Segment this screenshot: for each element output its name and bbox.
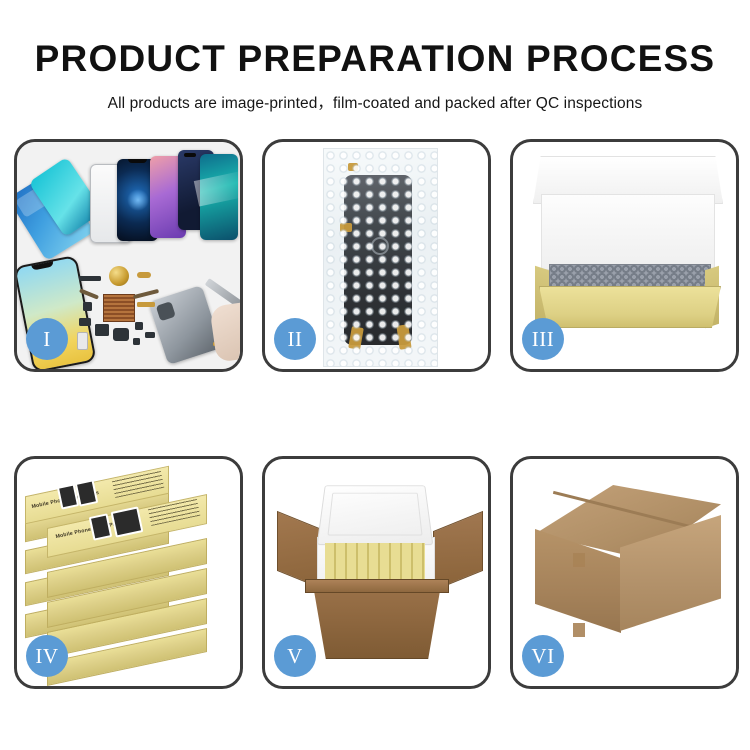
speaker-coil-part [109, 266, 129, 286]
step-panel-2: II [262, 139, 491, 372]
carton-tape-patch [573, 623, 585, 637]
page-title: PRODUCT PREPARATION PROCESS [0, 40, 750, 79]
bubble-texture [324, 149, 437, 366]
step-panel-5: V [262, 456, 491, 689]
flex-cable [133, 289, 159, 299]
spare-part-chip [79, 318, 91, 326]
step-badge-1: I [26, 318, 68, 360]
box-front-panel [539, 286, 721, 328]
spare-part-flex [137, 302, 155, 307]
carton-tape-patch [573, 553, 585, 567]
carton-rim [305, 579, 449, 593]
step-6-image: VI [513, 459, 736, 686]
step-badge-5: V [274, 635, 316, 677]
technician-hand [209, 301, 240, 362]
step-panel-1: I [14, 139, 243, 372]
spare-part-camera [113, 328, 129, 341]
bubble-wrap-bag [323, 148, 438, 367]
spare-part-connector [77, 332, 88, 350]
step-badge-4: IV [26, 635, 68, 677]
step-panel-6: VI [510, 456, 739, 689]
box-white-foam [541, 194, 715, 270]
spare-part-chip [135, 322, 143, 330]
step-panel-4: Mobile Phone Spare Parts Mobile Phone Sp… [14, 456, 243, 689]
spare-part-chip [79, 276, 101, 281]
phone-back-housing [148, 285, 222, 365]
spare-part-chip [145, 332, 155, 338]
carton-front-panel [313, 585, 441, 659]
step-1-image: I [17, 142, 240, 369]
step-5-image: V [265, 459, 488, 686]
spare-part-chip [83, 302, 92, 311]
step-badge-6: VI [522, 635, 564, 677]
spare-part-gold-clip [137, 272, 151, 278]
phone-display-teal [200, 154, 238, 240]
spare-part-chip [133, 338, 140, 345]
product-preparation-infographic: PRODUCT PREPARATION PROCESS All products… [0, 0, 750, 750]
circuit-board-part [103, 294, 135, 322]
step-4-image: Mobile Phone Spare Parts Mobile Phone Sp… [17, 459, 240, 686]
step-3-image: III [513, 142, 736, 369]
styrofoam-lid [317, 485, 434, 545]
spare-part-chip [95, 324, 109, 336]
header: PRODUCT PREPARATION PROCESS All products… [0, 0, 750, 113]
page-subtitle: All products are image-printed，film-coat… [0, 91, 750, 113]
step-badge-3: III [522, 318, 564, 360]
step-badge-2: II [274, 318, 316, 360]
step-2-image: II [265, 142, 488, 369]
process-step-grid: I II [14, 139, 738, 689]
step-panel-3: III [510, 139, 739, 372]
